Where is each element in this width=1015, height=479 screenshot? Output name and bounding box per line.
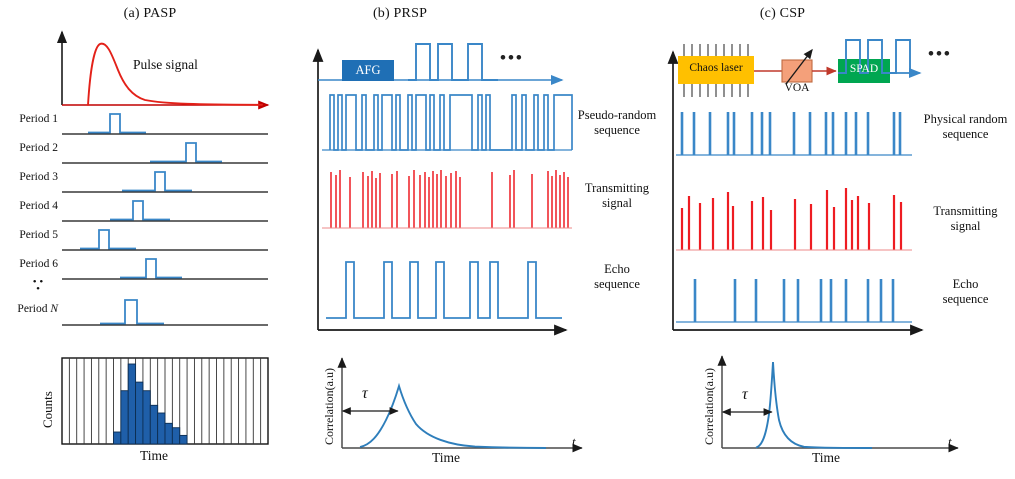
panel-csp: (c) CSP — [660, 0, 1015, 479]
period-label-5: Period 5 — [4, 229, 58, 241]
chaos-laser-fins-top — [684, 44, 748, 57]
period-n-prefix: Period — [17, 303, 50, 315]
panel-b-echo-label: Echo sequence — [572, 262, 662, 293]
histogram-yaxis-label: Counts — [40, 391, 56, 428]
physical-random-sequence-spikes — [682, 112, 900, 155]
period-label-3: Period 3 — [4, 171, 58, 183]
panel-c-corr-axis-tick: t — [948, 434, 952, 450]
afg-label: AFG — [342, 63, 394, 78]
echo-sequence-trace — [326, 262, 562, 318]
panel-c-corr-xaxis-label: Time — [812, 450, 840, 466]
spad-label: SPAD — [838, 63, 890, 75]
panel-c-transmitting-spikes — [682, 188, 901, 250]
pulse-signal-curve — [88, 44, 262, 105]
voa-block — [782, 60, 812, 82]
panel-pasp: (a) PASP — [0, 0, 300, 479]
chaos-laser-fins-bottom — [684, 84, 748, 97]
period-vertical-ellipsis: • • • — [30, 279, 46, 293]
period-label-2: Period 2 — [4, 142, 58, 154]
chaos-laser-label: Chaos laser — [678, 62, 754, 74]
panel-b-corr-yaxis-label: Correlation(a.u) — [322, 368, 337, 445]
afg-clock-pulses — [408, 44, 498, 80]
panel-b-corr-axis-tick: t — [572, 434, 576, 450]
period-n-italic: N — [50, 303, 58, 315]
panel-prsp: (b) PRSP — [300, 0, 660, 479]
panel-b-ellipsis: ••• — [500, 48, 524, 68]
panel-b-tau-symbol: τ — [362, 385, 368, 403]
physical-random-sequence-label: Physical random sequence — [918, 112, 1013, 143]
panel-c-correlation-curve — [756, 362, 872, 448]
panel-c-corr-yaxis-label: Correlation(a.u) — [702, 368, 717, 445]
panel-b-corr-xaxis-label: Time — [432, 450, 460, 466]
period-label-1: Period 1 — [4, 113, 58, 125]
voa-label: VOA — [777, 82, 817, 94]
period-label-6: Period 6 — [4, 258, 58, 270]
panel-c-ellipsis: ••• — [928, 44, 952, 64]
panel-c-echo-label: Echo sequence — [918, 277, 1013, 308]
panel-c-tau-symbol: τ — [742, 386, 748, 404]
panel-a-period-baselines — [62, 134, 268, 325]
period-label-4: Period 4 — [4, 200, 58, 212]
pseudo-random-sequence-trace — [330, 95, 572, 150]
panel-a-period-pulses — [80, 114, 222, 324]
panel-b-transmitting-label: Transmitting signal — [572, 181, 662, 212]
transmitting-signal-spikes — [331, 170, 568, 228]
period-label-n: Period N — [4, 303, 58, 315]
histogram-xaxis-label: Time — [140, 448, 168, 464]
panel-b-correlation-curve — [360, 386, 546, 448]
panel-c-transmitting-label: Transmitting signal — [918, 204, 1013, 235]
pulse-signal-label: Pulse signal — [133, 57, 198, 73]
pseudo-random-sequence-label: Pseudo-random sequence — [572, 108, 662, 139]
panel-c-echo-spikes — [695, 279, 893, 322]
